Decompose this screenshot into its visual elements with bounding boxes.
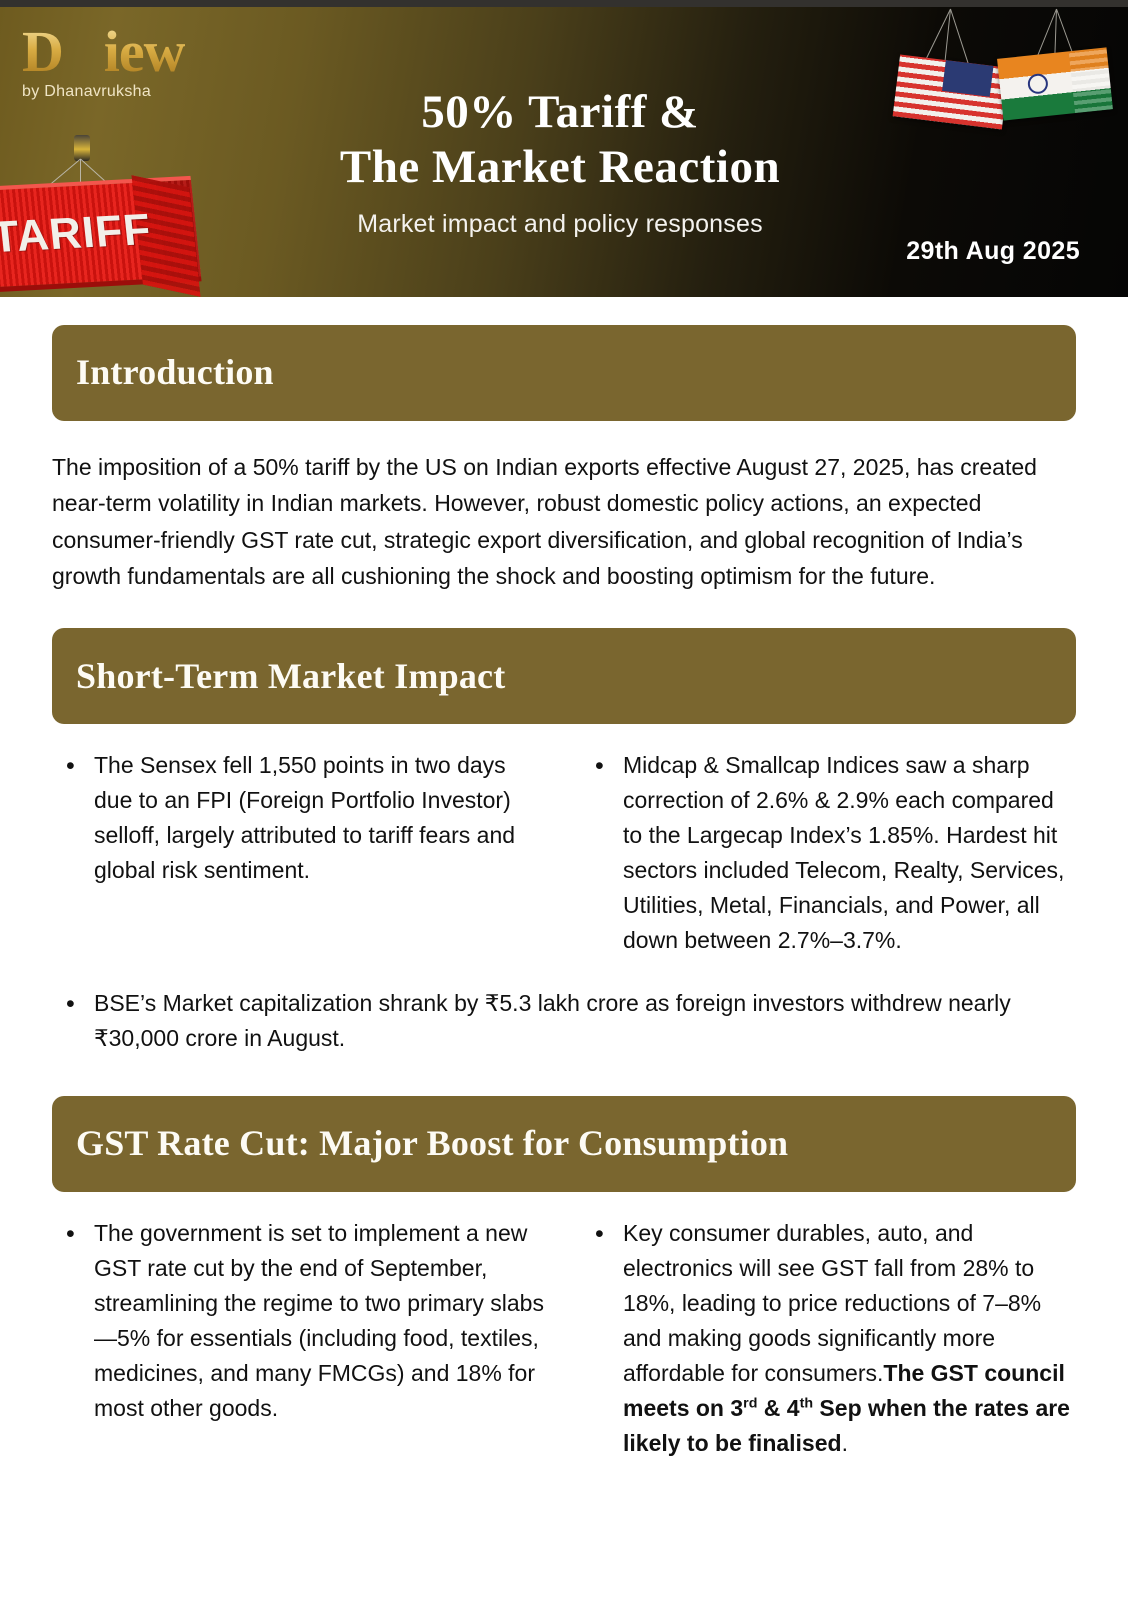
- list-item: The government is set to implement a new…: [52, 1216, 547, 1426]
- gst-columns: The government is set to implement a new…: [52, 1216, 1076, 1467]
- short-term-impact-fullwidth-bullets: BSE’s Market capitalization shrank by ₹5…: [52, 986, 1076, 1056]
- section-header-gst-rate-cut: GST Rate Cut: Major Boost for Consumptio…: [52, 1096, 1076, 1192]
- gst-bold-2: & 4: [757, 1395, 799, 1421]
- list-item: The Sensex fell 1,550 points in two days…: [52, 748, 547, 888]
- top-strip: [0, 0, 1128, 7]
- list-item-rich: Key consumer durables, auto, and electro…: [581, 1216, 1076, 1461]
- ashoka-chakra-icon: [1027, 73, 1049, 95]
- section-title-gst-rate-cut: GST Rate Cut: Major Boost for Consumptio…: [76, 1124, 788, 1164]
- short-term-impact-right-column: Midcap & Smallcap Indices saw a sharp co…: [581, 748, 1076, 964]
- brand-logo: DView by Dhanavruksha: [22, 23, 222, 101]
- tariff-container-illustration: TARIFF: [0, 125, 214, 297]
- logo-tagline: by Dhanavruksha: [22, 83, 222, 101]
- header-date: 29th Aug 2025: [906, 237, 1080, 266]
- gst-left-column: The government is set to implement a new…: [52, 1216, 547, 1467]
- introduction-paragraph: The imposition of a 50% tariff by the US…: [52, 449, 1076, 594]
- header-subtitle: Market impact and policy responses: [240, 210, 880, 239]
- tariff-label: TARIFF: [0, 205, 155, 263]
- list-item: BSE’s Market capitalization shrank by ₹5…: [52, 986, 1076, 1056]
- us-cable-3: [950, 9, 969, 64]
- section-header-short-term-market-impact: Short-Term Market Impact: [52, 628, 1076, 724]
- crane-hook-icon: [74, 135, 90, 161]
- bullet-list-right: Midcap & Smallcap Indices saw a sharp co…: [581, 748, 1076, 958]
- header-title-block: 50% Tariff & The Market Reaction Market …: [240, 85, 880, 239]
- logo-letters-iew: iew: [104, 19, 185, 84]
- title-line-1: 50% Tariff &: [240, 85, 880, 140]
- section-title-short-term-market-impact: Short-Term Market Impact: [76, 657, 505, 697]
- logo-wordmark: DView: [22, 23, 185, 81]
- short-term-impact-left-column: The Sensex fell 1,550 points in two days…: [52, 748, 547, 964]
- section-title-introduction: Introduction: [76, 353, 274, 393]
- flag-containers-illustration: [888, 7, 1118, 137]
- bullet-list-gst-right: Key consumer durables, auto, and electro…: [581, 1216, 1076, 1461]
- gst-plain-suffix: .: [842, 1430, 848, 1456]
- india-flag-container-icon: [997, 47, 1113, 120]
- title-line-2: The Market Reaction: [240, 140, 880, 195]
- newsletter-page: DView by Dhanavruksha TARIFF: [0, 0, 1128, 1600]
- list-item: Midcap & Smallcap Indices saw a sharp co…: [581, 748, 1076, 958]
- in-cable-2: [1054, 9, 1057, 59]
- gst-right-column: Key consumer durables, auto, and electro…: [581, 1216, 1076, 1467]
- us-flag-container-icon: [893, 55, 1010, 130]
- gst-sup-2: th: [800, 1395, 813, 1411]
- bullet-list-gst-left: The government is set to implement a new…: [52, 1216, 547, 1426]
- gst-sup-1: rd: [743, 1395, 757, 1411]
- container-ridges: [1069, 47, 1113, 113]
- document-body: Introduction The imposition of a 50% tar…: [0, 297, 1128, 1467]
- us-flag-canton: [942, 60, 993, 97]
- short-term-impact-columns: The Sensex fell 1,550 points in two days…: [52, 748, 1076, 964]
- section-header-introduction: Introduction: [52, 325, 1076, 421]
- bullet-list-left: The Sensex fell 1,550 points in two days…: [52, 748, 547, 888]
- header-banner: DView by Dhanavruksha TARIFF: [0, 7, 1128, 297]
